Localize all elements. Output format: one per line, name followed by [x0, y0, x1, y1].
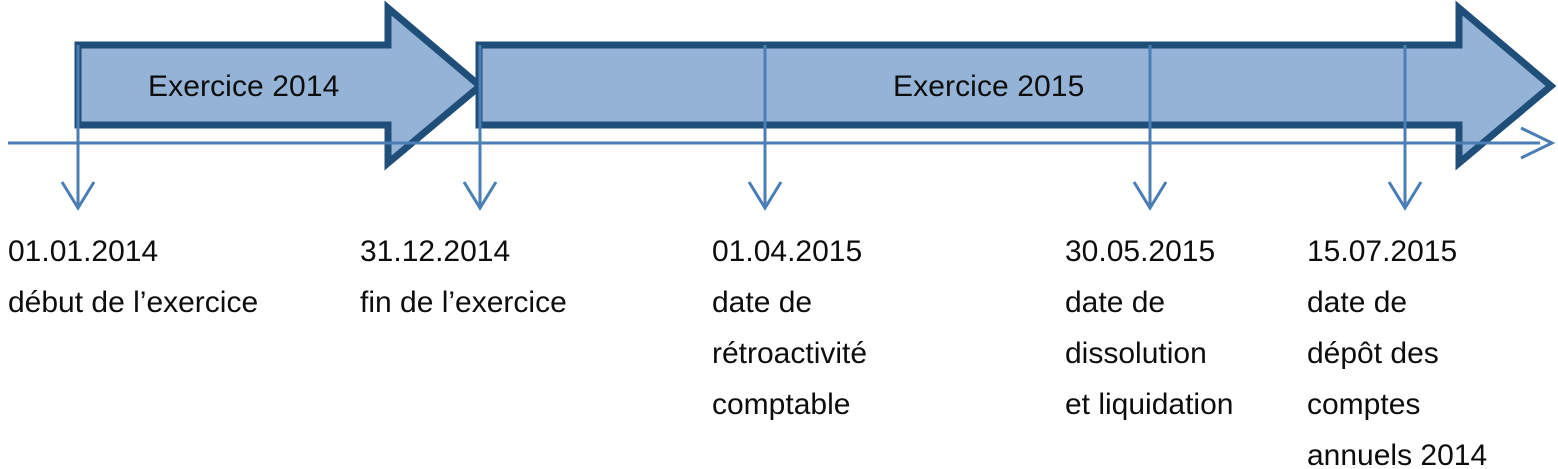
event-description-line: et liquidation	[1065, 379, 1233, 430]
event-description-line: rétroactivité	[712, 328, 867, 379]
event-label-01-04-2015: 01.04.2015 date de rétroactivité comptab…	[712, 226, 867, 430]
event-description-line: début de l’exercice	[8, 277, 258, 328]
event-label-31-12-2014: 31.12.2014 fin de l’exercice	[360, 226, 567, 328]
event-date: 30.05.2015	[1065, 226, 1233, 277]
event-description-line: date de	[1065, 277, 1233, 328]
event-description-line: fin de l’exercice	[360, 277, 567, 328]
event-date: 01.01.2014	[8, 226, 258, 277]
event-date: 15.07.2015	[1307, 226, 1487, 277]
event-description-line: date de	[1307, 277, 1487, 328]
timeline-diagram: Exercice 2014 Exercice 2015 01.01.2014 d…	[0, 0, 1558, 469]
event-description-line: annuels 2014	[1307, 430, 1487, 469]
event-description-line: date de	[712, 277, 867, 328]
event-label-01-01-2014: 01.01.2014 début de l’exercice	[8, 226, 258, 328]
event-description-line: dépôt des	[1307, 328, 1487, 379]
period-label-exercice-2014: Exercice 2014	[148, 72, 339, 102]
event-description-line: dissolution	[1065, 328, 1233, 379]
event-description-line: comptable	[712, 379, 867, 430]
event-label-30-05-2015: 30.05.2015 date de dissolution et liquid…	[1065, 226, 1233, 430]
event-label-15-07-2015: 15.07.2015 date de dépôt des comptes ann…	[1307, 226, 1487, 469]
event-date: 31.12.2014	[360, 226, 567, 277]
event-description-line: comptes	[1307, 379, 1487, 430]
period-label-exercice-2015: Exercice 2015	[893, 72, 1084, 102]
event-date: 01.04.2015	[712, 226, 867, 277]
